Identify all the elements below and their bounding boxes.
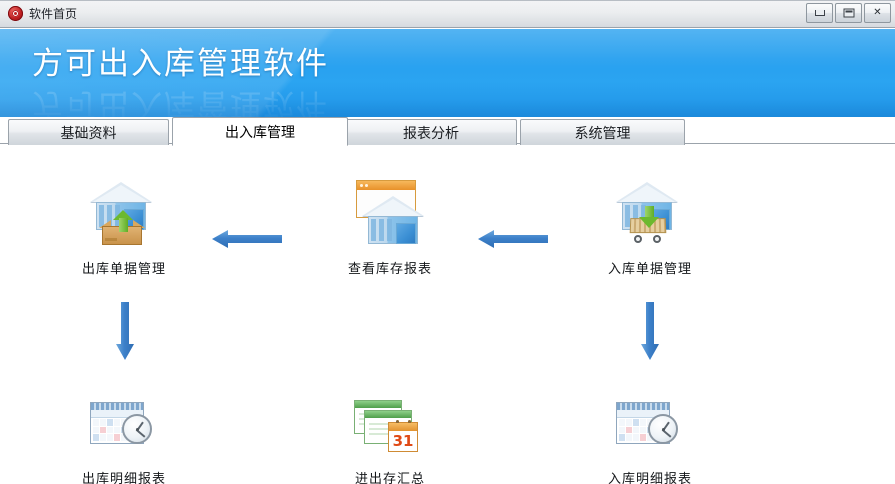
workflow-node-label: 出库单据管理	[39, 258, 209, 277]
clock-icon	[122, 414, 152, 444]
flow-arrow-left-stock-to-out	[212, 228, 282, 250]
workflow-node-label: 入库明细报表	[565, 468, 735, 484]
workflow-node-label: 入库单据管理	[565, 258, 735, 277]
calendar-clock-icon	[565, 384, 735, 458]
warehouse-slat	[371, 219, 376, 241]
window-controls: ✕	[806, 3, 891, 23]
workflow-node-label: 出库明细报表	[39, 468, 209, 484]
green-windows-calendar-icon: 31	[305, 384, 475, 458]
banner-title-reflection: 方可出入库管理软件	[32, 85, 329, 117]
banner-title: 方可出入库管理软件	[32, 45, 329, 83]
tab-system-management[interactable]: 系统管理	[520, 119, 685, 145]
app-logo-icon	[8, 6, 23, 21]
arrow-down-green-icon	[639, 206, 659, 228]
workflow-node-in-detail-report[interactable]: 入库明细报表	[565, 384, 735, 484]
roof-inner-shape	[365, 199, 421, 216]
warehouse-cart-in-icon	[565, 174, 735, 248]
workflow-node-summary[interactable]: 31 进出存汇总	[305, 384, 475, 484]
roof-inner-shape	[619, 185, 675, 202]
workflow-node-label: 查看库存报表	[305, 258, 475, 277]
warehouse-slat	[387, 219, 392, 241]
arrow-up-green-icon	[113, 210, 133, 232]
application-window: 软件首页 ✕ 方可出入库管理软件 方可出入库管理软件 基础资料 出入库管理 报表…	[0, 0, 895, 484]
workflow-panel: 出库单据管理	[0, 146, 895, 484]
clock-icon	[648, 414, 678, 444]
tab-inout-management[interactable]: 出入库管理	[172, 117, 348, 146]
close-icon: ✕	[873, 8, 881, 18]
calendar-31-icon: 31	[388, 422, 418, 452]
app-banner: 方可出入库管理软件 方可出入库管理软件	[0, 29, 895, 117]
workflow-node-out-doc[interactable]: 出库单据管理	[39, 174, 209, 277]
tab-bar: 基础资料 出入库管理 报表分析 系统管理	[0, 117, 895, 145]
workflow-node-label: 进出存汇总	[305, 468, 475, 484]
flow-arrow-left-in-to-stock	[478, 228, 548, 250]
warehouse-box-out-icon	[39, 174, 209, 248]
minimize-icon	[815, 10, 825, 16]
warehouse-slat	[379, 219, 384, 241]
minimize-button[interactable]	[806, 3, 833, 23]
roof-inner-shape	[93, 185, 149, 202]
workflow-node-in-doc[interactable]: 入库单据管理	[565, 174, 735, 277]
warehouse-window-icon	[305, 174, 475, 248]
calendar-clock-icon	[39, 384, 209, 458]
title-bar: 软件首页 ✕	[0, 0, 895, 28]
maximize-icon	[843, 9, 854, 18]
close-button[interactable]: ✕	[864, 3, 891, 23]
flow-arrow-down-in-to-report	[639, 302, 661, 360]
tab-report-analysis[interactable]: 报表分析	[345, 119, 517, 145]
titlebar-top-line	[0, 0, 895, 1]
maximize-button[interactable]	[835, 3, 862, 23]
tab-basic-data[interactable]: 基础资料	[8, 119, 169, 145]
workflow-node-stock-report[interactable]: 查看库存报表	[305, 174, 475, 277]
flow-arrow-down-out-to-report	[114, 302, 136, 360]
window-title: 软件首页	[29, 5, 77, 23]
warehouse-door	[396, 223, 416, 244]
workflow-node-out-detail-report[interactable]: 出库明细报表	[39, 384, 209, 484]
